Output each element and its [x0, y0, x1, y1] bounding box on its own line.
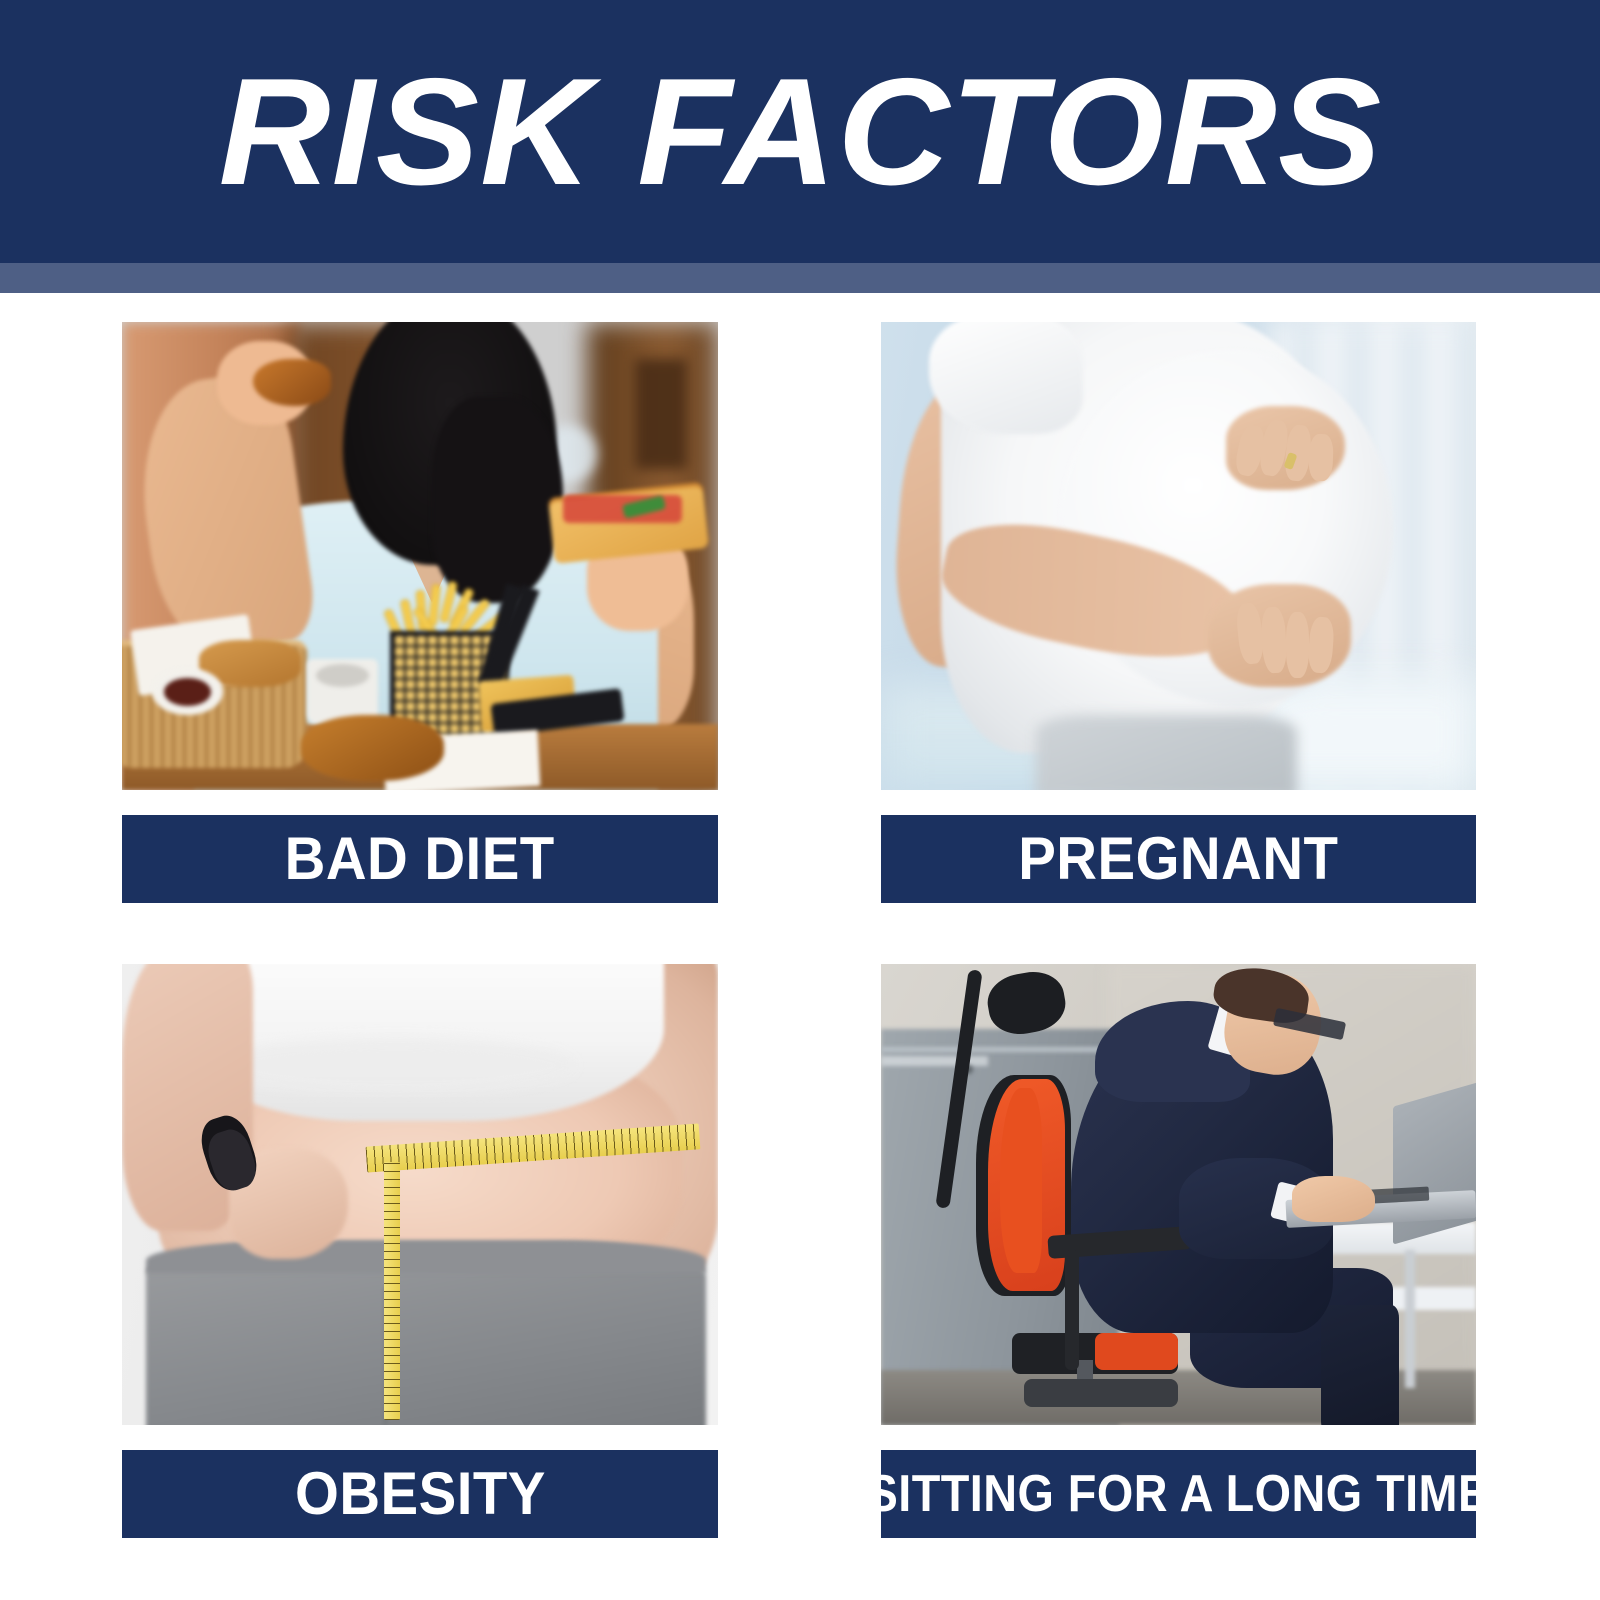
- measuring-tape-hanging: [384, 1162, 400, 1420]
- risk-factor-card-pregnant[interactable]: PREGNANT: [881, 322, 1476, 903]
- risk-factor-grid: BAD DIET PREGNANT: [0, 293, 1600, 1600]
- sauce: [164, 678, 212, 706]
- desk-leg: [1405, 1250, 1415, 1388]
- hand-on-keyboard: [1292, 1176, 1375, 1222]
- label-bar-pregnant: PREGNANT: [881, 815, 1476, 903]
- shirt-fold: [217, 1038, 575, 1093]
- chicken-wings: [301, 715, 444, 781]
- risk-factor-card-obesity[interactable]: OBESITY: [122, 964, 718, 1538]
- chair-base: [1024, 1379, 1179, 1407]
- page-title: RISK FACTORS: [218, 56, 1382, 208]
- hair-strand: [432, 397, 563, 603]
- risk-factor-card-sitting[interactable]: SITTING FOR A LONG TIME: [881, 964, 1476, 1538]
- label-bar-sitting: SITTING FOR A LONG TIME: [881, 1450, 1476, 1538]
- waistband: [146, 1241, 706, 1273]
- label-text-obesity: OBESITY: [295, 1464, 546, 1524]
- cabinet-edge: [881, 1047, 1119, 1052]
- wall-frame: [635, 359, 687, 469]
- bad-diet-photo: [122, 322, 718, 790]
- finger: [1309, 434, 1334, 482]
- label-bar-bad-diet: BAD DIET: [122, 815, 718, 903]
- label-text-sitting: SITTING FOR A LONG TIME: [867, 1468, 1490, 1520]
- grey-pants: [1036, 715, 1298, 790]
- label-text-pregnant: PREGNANT: [1018, 829, 1338, 889]
- dipping-cup-inner: [316, 664, 370, 687]
- label-bar-obesity: OBESITY: [122, 1450, 718, 1538]
- chair-seat-orange: [1095, 1333, 1178, 1370]
- trousers-shin: [1321, 1305, 1398, 1425]
- header-accent-bar: [0, 263, 1600, 293]
- sitting-photo: [881, 964, 1476, 1425]
- risk-factor-card-bad-diet[interactable]: BAD DIET: [122, 322, 718, 903]
- page-header: RISK FACTORS: [0, 0, 1600, 263]
- pregnant-photo: [881, 322, 1476, 790]
- chair-armrest-post: [1065, 1250, 1079, 1370]
- fried-chicken-piece: [253, 359, 330, 406]
- label-text-bad-diet: BAD DIET: [285, 829, 555, 889]
- chair-backrest-highlight: [1000, 1088, 1042, 1272]
- cabinet-label-strip: [881, 1056, 988, 1066]
- obesity-photo: [122, 964, 718, 1425]
- finger: [1286, 612, 1310, 678]
